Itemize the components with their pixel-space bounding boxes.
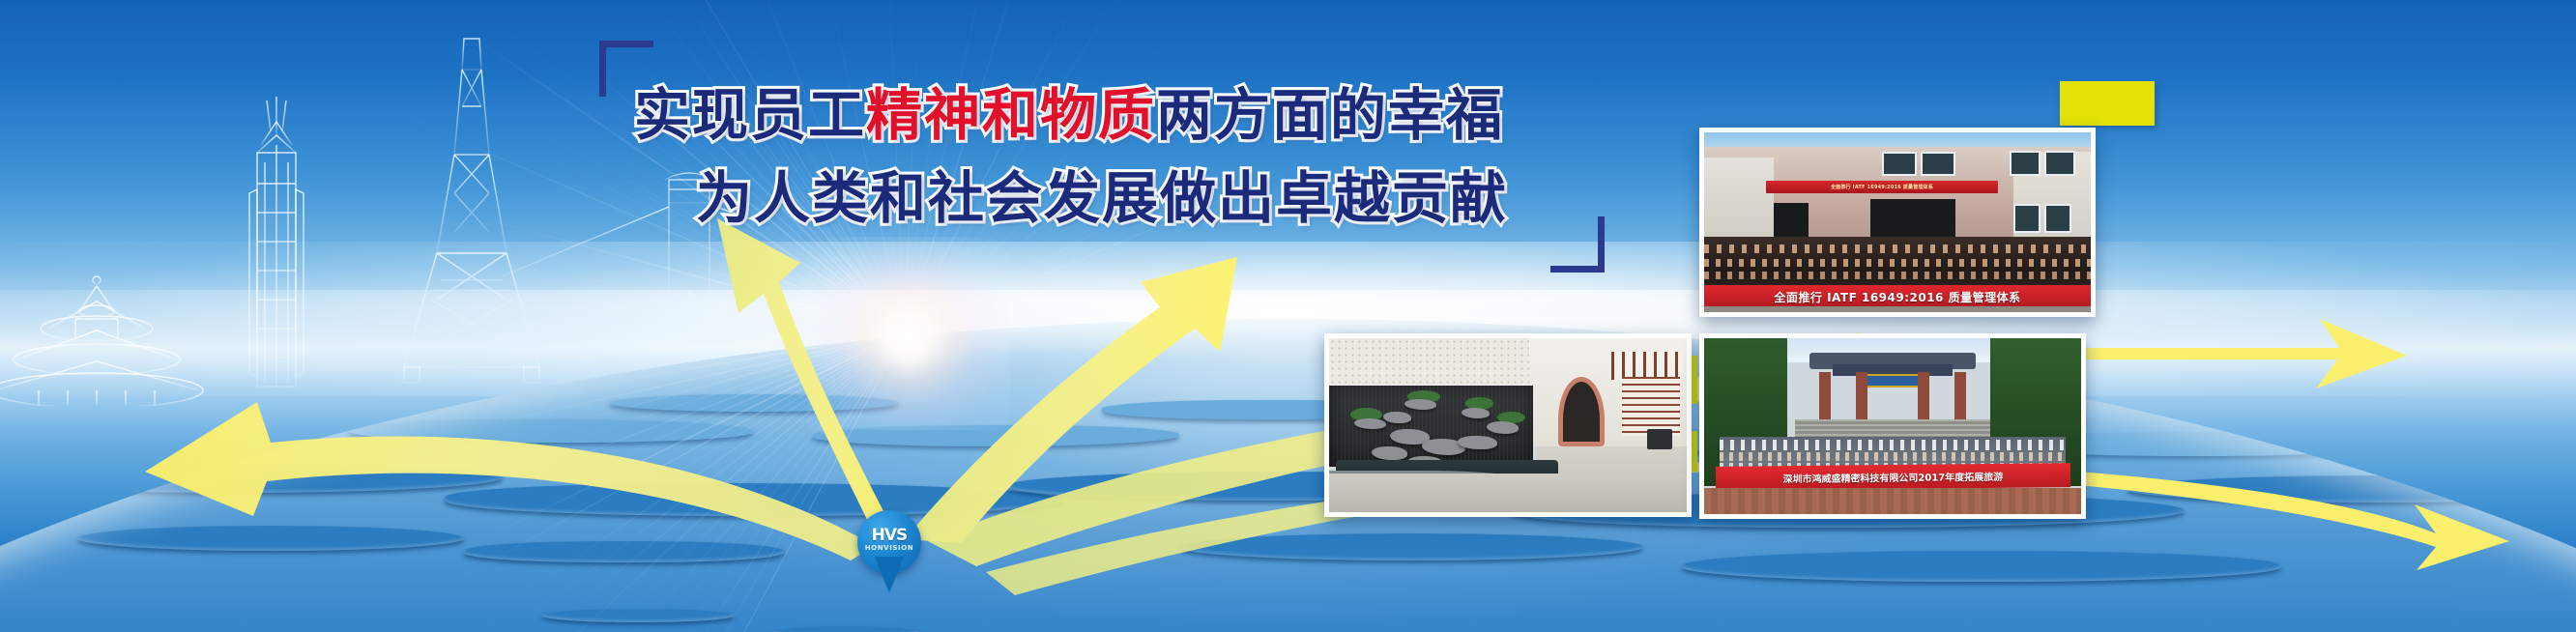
pin-tip — [875, 557, 904, 593]
photo1-top-banner: 全面推行 IATF 16949:2016 质量管理体系 — [1766, 181, 1998, 193]
honvision-location-pin: HVS HONVISION — [857, 510, 921, 593]
honvision-logo-wordmark: HONVISION — [857, 545, 921, 552]
bracket-bottom-right — [1550, 216, 1605, 273]
photo-iatf-certification-group: 全面推行 IATF 16949:2016 质量管理体系 全面推行 IATF 16… — [1699, 128, 2096, 317]
slogan-line-2: 为人类和社会发展做出卓越贡献 — [696, 153, 1508, 234]
photo1-bottom-banner: 全面推行 IATF 16949:2016 质量管理体系 — [1704, 285, 2091, 308]
yellow-accent-rectangle — [2060, 81, 2155, 126]
company-culture-banner: 实现员工精神和物质两方面的幸福 为人类和社会发展做出卓越贡献 全面推行 IATF… — [0, 0, 2576, 632]
temple-of-heaven-icon — [0, 267, 203, 406]
photo1-bottom-banner-text: 全面推行 IATF 16949:2016 质量管理体系 — [1704, 285, 2091, 308]
honvision-logo-mark: HVS — [857, 528, 921, 544]
slogan-block: 实现员工精神和物质两方面的幸福 为人类和社会发展做出卓越贡献 — [599, 41, 1605, 273]
slogan-line-1-prefix: 实现员工 — [634, 82, 866, 148]
globe-earth — [0, 319, 2576, 632]
slogan-line-1-suffix: 两方面的幸福 — [1156, 82, 1504, 148]
eiffel-tower-icon — [396, 14, 549, 383]
jin-mao-tower-icon — [249, 97, 304, 387]
photo-company-outing-2017: 深圳市鸿威盛精密科技有限公司2017年度拓展旅游 — [1699, 333, 2086, 519]
sunburst-rays-down — [904, 333, 906, 335]
photo-company-courtyard-rock-garden — [1324, 333, 1692, 517]
slogan-line-1-highlight: 精神和物质 — [866, 82, 1156, 148]
photo1-top-banner-text: 全面推行 IATF 16949:2016 质量管理体系 — [1766, 181, 1998, 193]
sunburst-rays-up — [904, 333, 906, 335]
slogan-line-1: 实现员工精神和物质两方面的幸福 — [634, 70, 1504, 151]
